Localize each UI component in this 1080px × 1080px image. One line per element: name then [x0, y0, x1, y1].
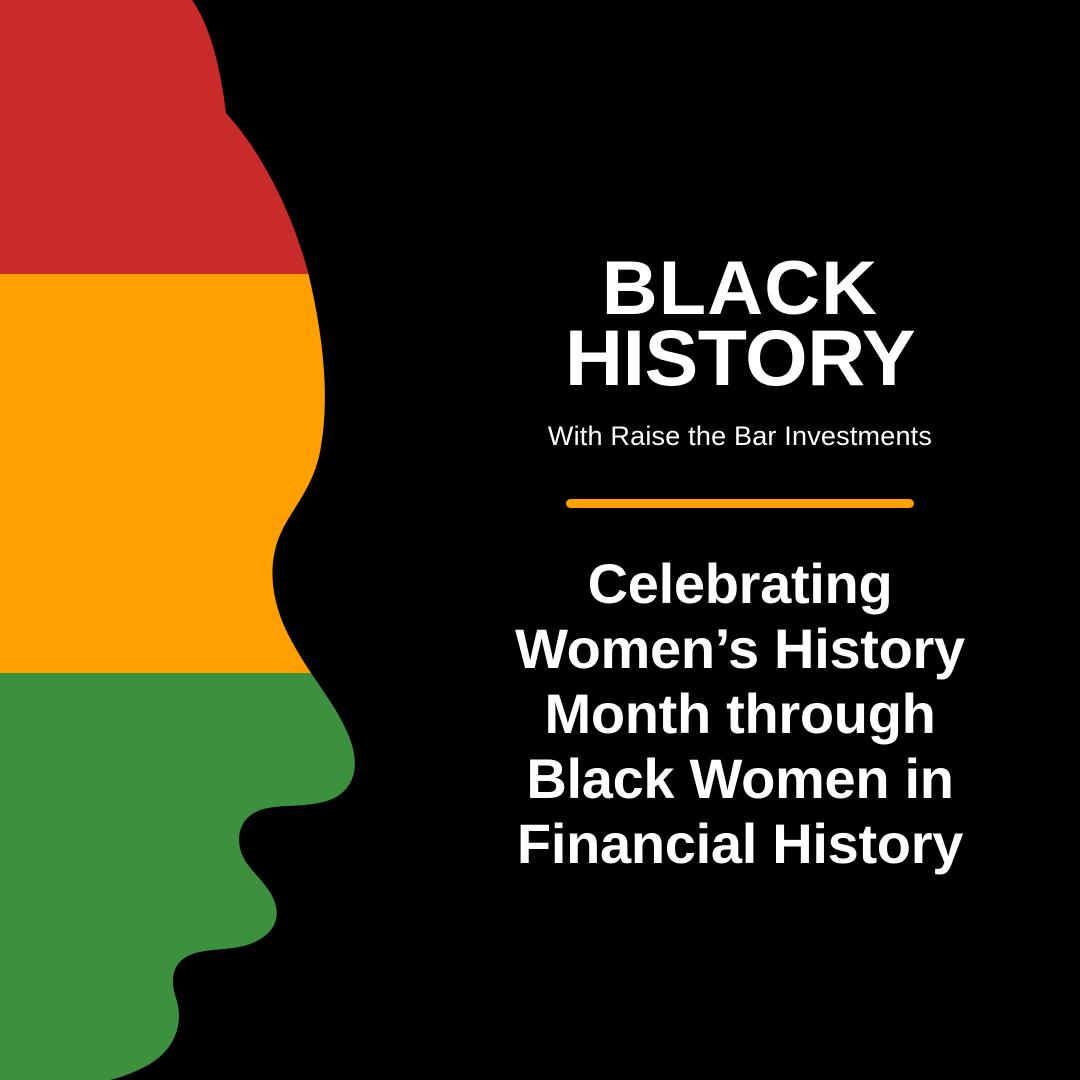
headline-line-4: Black Women in — [400, 747, 1080, 812]
headline-line-3: Month through — [400, 682, 1080, 747]
orange-divider-rule — [566, 499, 914, 508]
poster-title: BLACK HISTORY — [400, 256, 1080, 392]
headline-line-2: Women’s History — [400, 617, 1080, 682]
text-content-column: BLACK HISTORY With Raise the Bar Investm… — [400, 0, 1080, 1080]
headline-line-1: Celebrating — [400, 552, 1080, 617]
poster-headline: Celebrating Women’s History Month throug… — [400, 552, 1080, 877]
poster-subtitle: With Raise the Bar Investments — [548, 420, 932, 452]
black-history-poster: BLACK HISTORY With Raise the Bar Investm… — [0, 0, 1080, 1080]
title-line-history: HISTORY — [393, 323, 1080, 393]
divider-container — [400, 499, 1080, 508]
headline-line-5: Financial History — [400, 812, 1080, 877]
